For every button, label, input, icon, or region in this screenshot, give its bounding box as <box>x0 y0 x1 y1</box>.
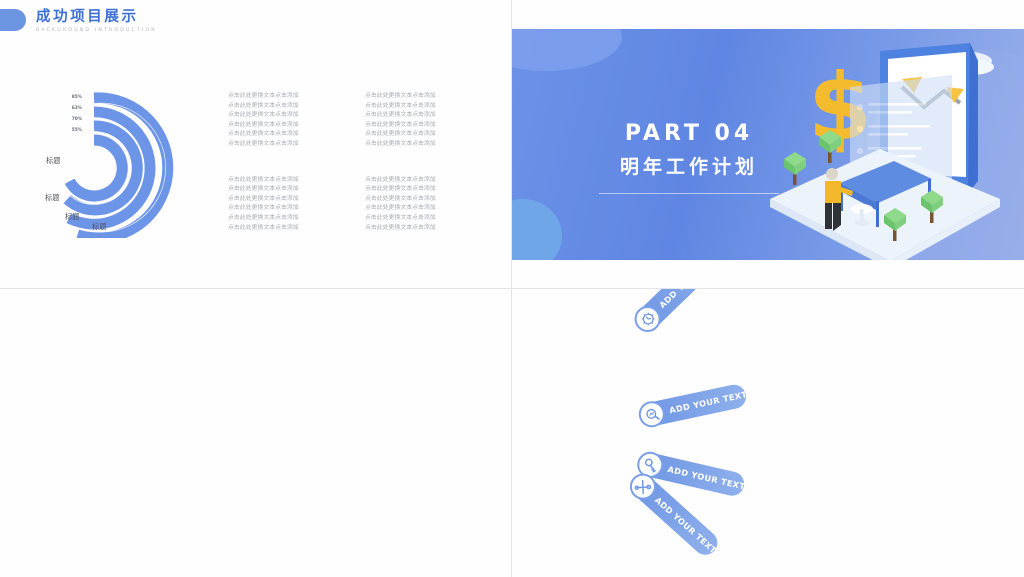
text-columns: 点击此处更换文本点击添加点击此处更换文本点击添加点击此处更换文本点击添加点击此处… <box>228 92 478 233</box>
text-line: 点击此处更换文本点击添加 <box>228 204 341 214</box>
text-line: 点击此处更换文本点击添加 <box>228 224 341 234</box>
text-line: 点击此处更换文本点击添加 <box>365 92 478 102</box>
text-line: 点击此处更换文本点击添加 <box>365 204 478 214</box>
tree <box>784 152 806 185</box>
text-line: 点击此处更换文本点击添加 <box>228 102 341 112</box>
slide-header: 成功项目展示 BACKGROUND INTRODUCTION <box>0 9 157 33</box>
text-block: 点击此处更换文本点击添加点击此处更换文本点击添加点击此处更换文本点击添加点击此处… <box>228 92 341 150</box>
text-line: 点击此处更换文本点击添加 <box>228 185 341 195</box>
text-line: 点击此处更换文本点击添加 <box>228 92 341 102</box>
slide-project-show: 成功项目展示 BACKGROUND INTRODUCTION <box>0 0 512 289</box>
chart-value: 85% <box>52 92 82 103</box>
text-line: 点击此处更换文本点击添加 <box>228 176 341 186</box>
text-block: 点击此处更换文本点击添加点击此处更换文本点击添加点击此处更换文本点击添加点击此处… <box>365 92 478 150</box>
text-line: 点击此处更换文本点击添加 <box>228 111 341 121</box>
chart-category-label: 标题 <box>65 212 79 222</box>
text-line: 点击此处更换文本点击添加 <box>228 195 341 205</box>
radial-bar-chart: 85% 63% 70% 55% 标题 标题 标题 标题 <box>52 88 197 238</box>
text-line: 点击此处更换文本点击添加 <box>365 140 478 150</box>
chart-value: 55% <box>52 125 82 136</box>
text-block: 点击此处更换文本点击添加点击此处更换文本点击添加点击此处更换文本点击添加点击此处… <box>228 176 341 234</box>
decor-blob <box>512 199 562 260</box>
chart-value: 70% <box>52 114 82 125</box>
text-line: 点击此处更换文本点击添加 <box>228 121 341 131</box>
chart-category-label: 标题 <box>45 193 59 203</box>
chart-category-label: 标题 <box>92 222 106 232</box>
chart-category-label: 标题 <box>46 156 60 166</box>
page-subtitle: BACKGROUND INTRODUCTION <box>36 28 157 33</box>
text-line: 点击此处更换文本点击添加 <box>365 185 478 195</box>
chart-value-labels: 85% 63% 70% 55% <box>52 92 82 136</box>
text-line: 点击此处更换文本点击添加 <box>365 111 478 121</box>
slide-part-04: PART 04 明年工作计划 <box>512 0 1024 289</box>
text-line: 点击此处更换文本点击添加 <box>365 121 478 131</box>
text-line: 点击此处更换文本点击添加 <box>365 195 478 205</box>
chart-value: 63% <box>52 103 82 114</box>
text-line: 点击此处更换文本点击添加 <box>228 214 341 224</box>
part-banner: PART 04 明年工作计划 <box>512 29 1024 260</box>
text-line: 点击此处更换文本点击添加 <box>365 102 478 112</box>
isometric-illustration: $ <box>762 31 1024 260</box>
text-line: 点击此处更换文本点击添加 <box>228 140 341 150</box>
decor-blob <box>512 29 622 71</box>
pill-list: ADD YOUR TEXT <box>512 289 1024 577</box>
slide-grid: 成功项目展示 BACKGROUND INTRODUCTION <box>0 0 1024 577</box>
text-line: 点击此处更换文本点击添加 <box>365 130 478 140</box>
header-pill-icon <box>0 9 26 31</box>
text-line: 点击此处更换文本点击添加 <box>228 130 341 140</box>
text-line: 点击此处更换文本点击添加 <box>365 214 478 224</box>
text-line: 点击此处更换文本点击添加 <box>365 176 478 186</box>
text-block: 点击此处更换文本点击添加点击此处更换文本点击添加点击此处更换文本点击添加点击此处… <box>365 176 478 234</box>
slide-plan-list: 明年工作计划 BACKGROUND INTRODUCTION 点击添加标题 AD… <box>512 289 1024 577</box>
page-title: 成功项目展示 <box>36 9 157 26</box>
slide-plan-text: 明年工作计划 BACKGROUND INTRODUCTION 点击此处更换文本添… <box>0 289 512 577</box>
divider <box>599 193 779 194</box>
text-line: 点击此处更换文本点击添加 <box>365 224 478 234</box>
